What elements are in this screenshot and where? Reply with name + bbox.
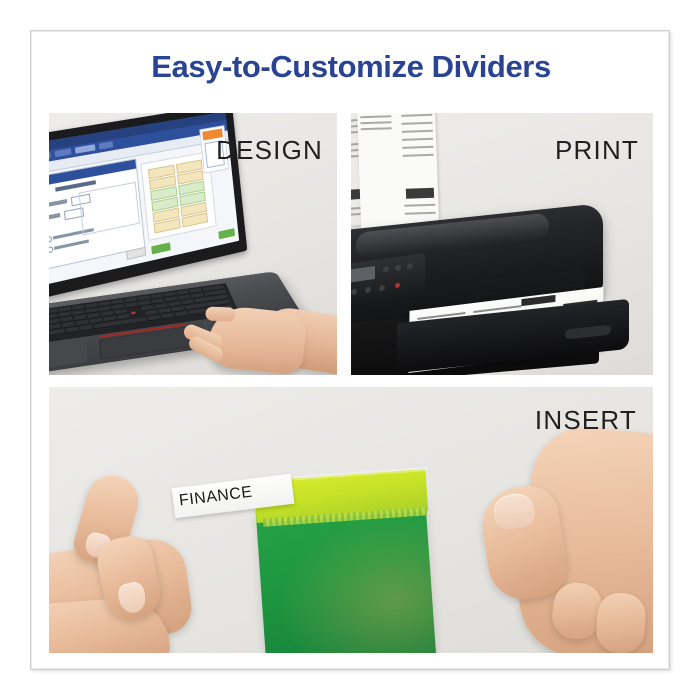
product-marketing-graphic: Easy-to-Customize Dividers [0, 0, 700, 700]
thumbnail [491, 491, 536, 531]
palm-rest-left [49, 339, 87, 371]
primary-action-button[interactable] [151, 242, 171, 254]
hand-palm [206, 304, 308, 375]
panel-label-insert: INSERT [535, 405, 637, 436]
panel-label-design: DESIGN [216, 135, 323, 166]
thumbnail [116, 580, 148, 615]
panel-insert: FINANCE [49, 387, 653, 653]
card-frame: Easy-to-Customize Dividers [30, 30, 670, 670]
template-grid [148, 159, 210, 232]
secondary-action-button[interactable] [218, 228, 235, 239]
hand-on-keyboard [199, 303, 337, 375]
hand-left [49, 451, 239, 653]
printer-button[interactable] [395, 264, 401, 271]
panel-label-print: PRINT [555, 135, 639, 166]
printer-button[interactable] [351, 289, 357, 296]
printer-button[interactable] [379, 285, 385, 292]
tray-handle[interactable] [565, 325, 611, 340]
trackpoint-nub-icon[interactable] [131, 311, 136, 314]
right-finger [595, 591, 647, 653]
panel-design: DESIGN [49, 113, 337, 375]
printer-button[interactable] [383, 266, 389, 273]
printer-button[interactable] [365, 287, 371, 294]
printer-button[interactable] [407, 263, 413, 270]
dialog-preview-box [79, 182, 140, 236]
hand-right [419, 425, 653, 653]
laptop-screen [49, 113, 239, 287]
printer-power-indicator-icon [395, 282, 400, 288]
finger [205, 307, 235, 322]
printer-lcd-display [351, 266, 375, 283]
page-title: Easy-to-Customize Dividers [31, 49, 671, 85]
panel-print: PRINT [351, 113, 653, 375]
feed-paper-sheet [357, 113, 439, 230]
